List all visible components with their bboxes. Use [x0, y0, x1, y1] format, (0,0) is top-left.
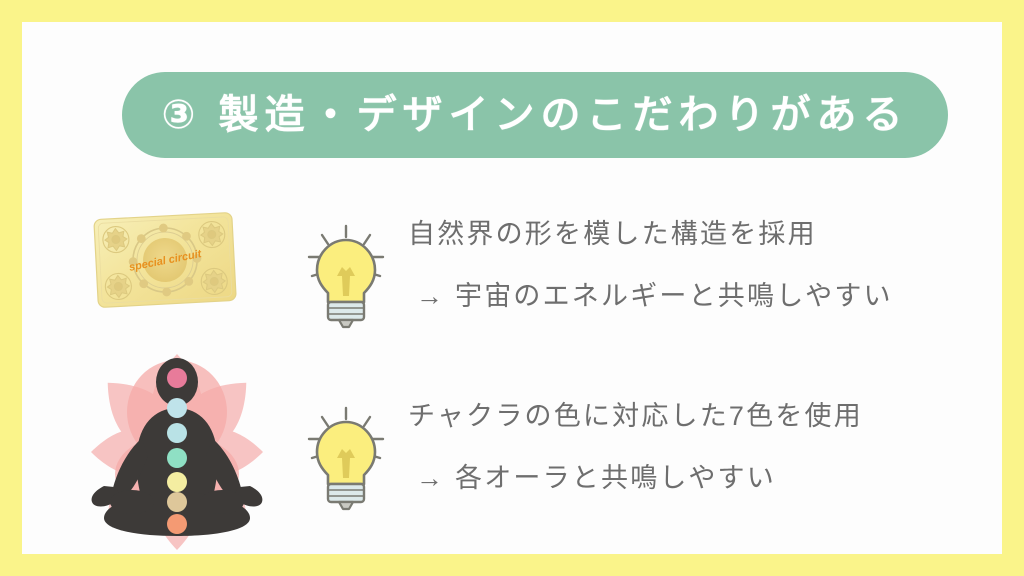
slide-inner-sheet: ③ 製造・デザインのこだわりがある	[22, 22, 1002, 554]
arrow-icon: →	[416, 281, 455, 311]
chakra-lotus-meditation-image	[64, 334, 290, 554]
page-title: ③ 製造・デザインのこだわりがある	[162, 95, 909, 135]
row-2-text: チャクラの色に対応した7色を使用 →各オーラと共鳴しやすい	[408, 400, 863, 493]
content-row-2: チャクラの色に対応した7色を使用 →各オーラと共鳴しやすい	[298, 400, 863, 512]
row-1-secondary-text: 宇宙のエネルギーと共鳴しやすい	[455, 281, 893, 311]
lightbulb-icon	[298, 218, 394, 330]
content-row-1: 自然界の形を模した構造を採用 →宇宙のエネルギーと共鳴しやすい	[298, 218, 893, 330]
header-pill: ③ 製造・デザインのこだわりがある	[122, 72, 948, 158]
arrow-icon: →	[416, 463, 455, 493]
gold-mandala-card-image: special circuit	[90, 208, 240, 311]
slide-root: ③ 製造・デザインのこだわりがある	[0, 0, 1024, 576]
row-2-secondary-text: 各オーラと共鳴しやすい	[455, 463, 776, 493]
row-1-text: 自然界の形を模した構造を採用 →宇宙のエネルギーと共鳴しやすい	[408, 218, 893, 311]
row-1-secondary-line: →宇宙のエネルギーと共鳴しやすい	[408, 282, 893, 310]
row-1-primary-text: 自然界の形を模した構造を採用	[408, 220, 893, 248]
row-2-primary-text: チャクラの色に対応した7色を使用	[408, 402, 863, 430]
row-2-secondary-line: →各オーラと共鳴しやすい	[408, 464, 863, 492]
lightbulb-icon	[298, 400, 394, 512]
